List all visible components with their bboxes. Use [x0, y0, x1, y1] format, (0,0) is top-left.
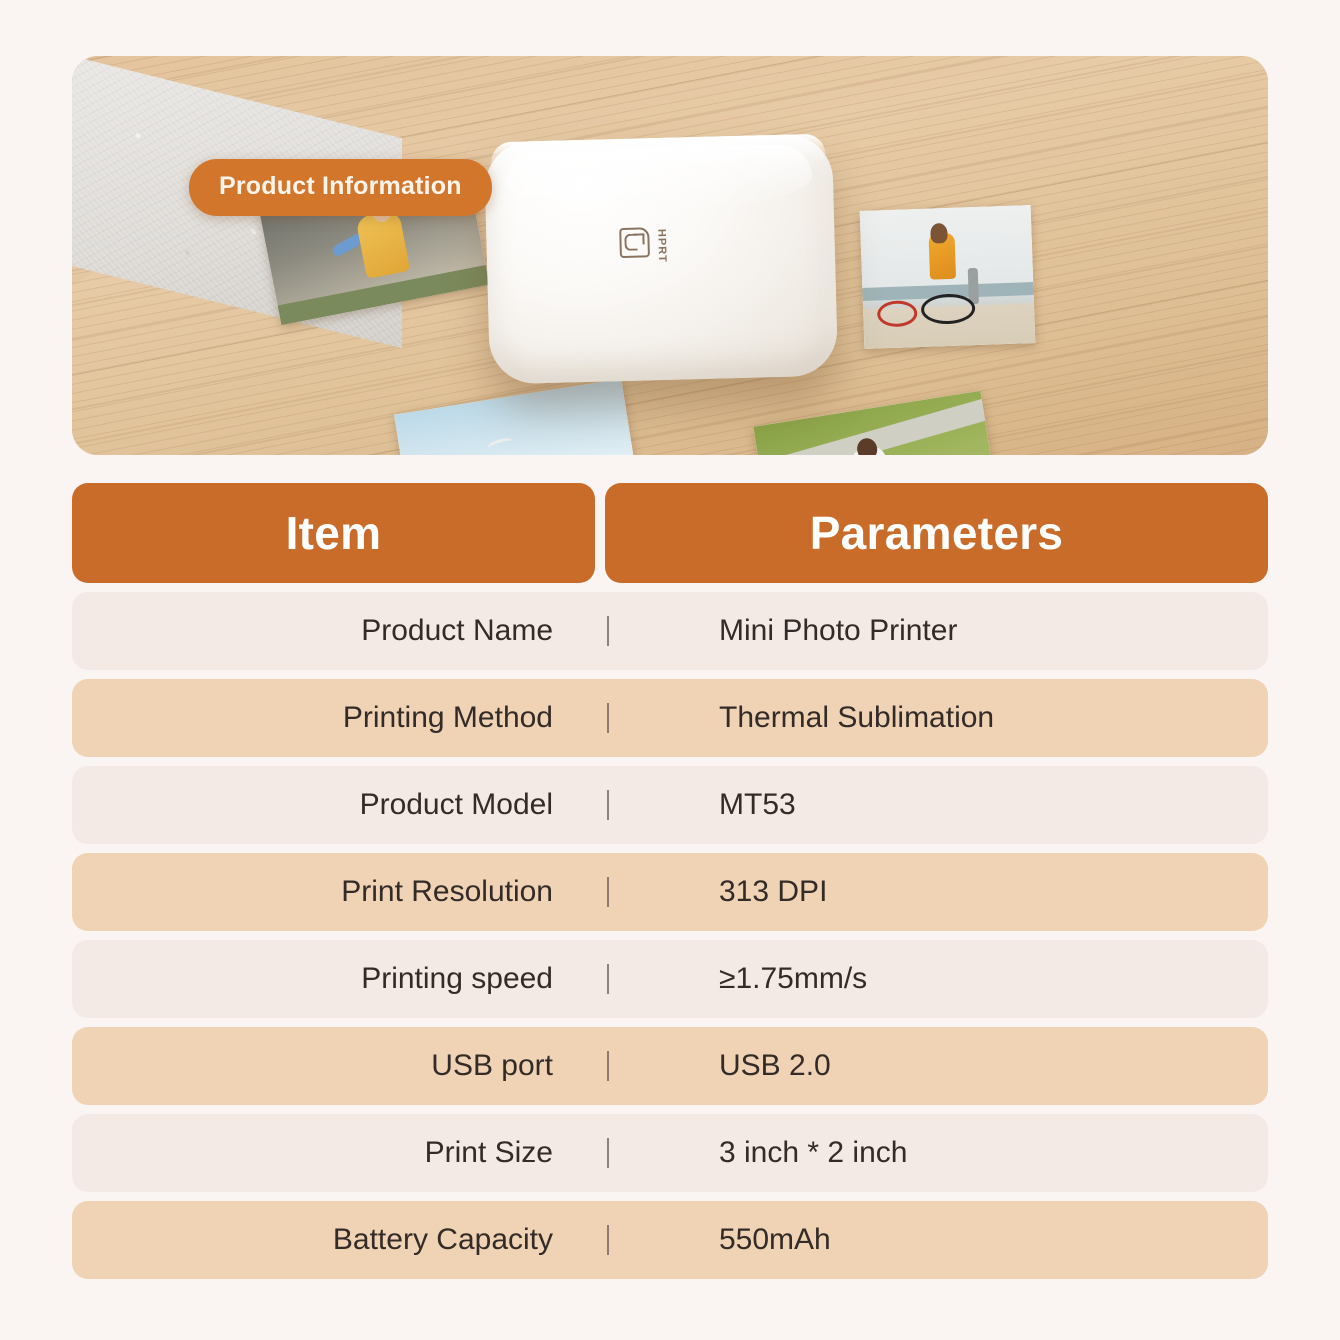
- table-row: Product ModelMT53: [72, 766, 1268, 844]
- specifications-table: Item Parameters Product NameMini Photo P…: [72, 483, 1268, 1279]
- spec-label: Battery Capacity: [72, 1223, 595, 1257]
- column-divider: [607, 790, 609, 820]
- spec-value: 3 inch * 2 inch: [609, 1136, 1268, 1170]
- column-divider: [607, 1225, 609, 1255]
- spec-label: Print Resolution: [72, 875, 595, 909]
- column-divider: [607, 877, 609, 907]
- product-information-badge: Product Information: [189, 159, 492, 216]
- column-header-parameters: Parameters: [605, 483, 1268, 583]
- column-divider: [607, 1051, 609, 1081]
- spec-label: Product Model: [72, 788, 595, 822]
- spec-label: Printing speed: [72, 962, 595, 996]
- column-divider: [607, 703, 609, 733]
- mini-photo-printer-device: HPRT: [484, 133, 838, 384]
- printer-gloss-highlight: [505, 144, 813, 215]
- spec-label: Product Name: [72, 614, 595, 648]
- table-header-row: Item Parameters: [72, 483, 1268, 583]
- hprt-wordmark: HPRT: [655, 229, 668, 263]
- table-row: Print Size3 inch * 2 inch: [72, 1114, 1268, 1192]
- table-row: Print Resolution313 DPI: [72, 853, 1268, 931]
- spec-value: ≥1.75mm/s: [609, 962, 1268, 996]
- hero-product-image: HPRT Product Information: [72, 56, 1268, 455]
- spec-value: 313 DPI: [609, 875, 1268, 909]
- photo-rider-hair: [930, 223, 948, 244]
- column-divider: [607, 616, 609, 646]
- spec-label: Print Size: [72, 1136, 595, 1170]
- table-body: Product NameMini Photo PrinterPrinting M…: [72, 592, 1268, 1279]
- table-row: Printing speed≥1.75mm/s: [72, 940, 1268, 1018]
- spec-value: USB 2.0: [609, 1049, 1268, 1083]
- table-row: Battery Capacity550mAh: [72, 1201, 1268, 1279]
- table-row: Printing MethodThermal Sublimation: [72, 679, 1268, 757]
- spec-label: USB port: [72, 1049, 595, 1083]
- spec-value: Mini Photo Printer: [609, 614, 1268, 648]
- column-header-item: Item: [72, 483, 595, 583]
- product-information-page: HPRT Product Information Item Parameters…: [0, 0, 1340, 1340]
- hprt-logo: HPRT: [619, 227, 674, 262]
- column-divider: [607, 1138, 609, 1168]
- spec-value: MT53: [609, 788, 1268, 822]
- table-row: USB portUSB 2.0: [72, 1027, 1268, 1105]
- column-divider: [607, 964, 609, 994]
- hprt-mark-icon: [619, 228, 650, 259]
- spec-value: 550mAh: [609, 1223, 1268, 1257]
- printed-photo-cyclist: [860, 205, 1036, 349]
- spec-label: Printing Method: [72, 701, 595, 735]
- spec-value: Thermal Sublimation: [609, 701, 1268, 735]
- table-row: Product NameMini Photo Printer: [72, 592, 1268, 670]
